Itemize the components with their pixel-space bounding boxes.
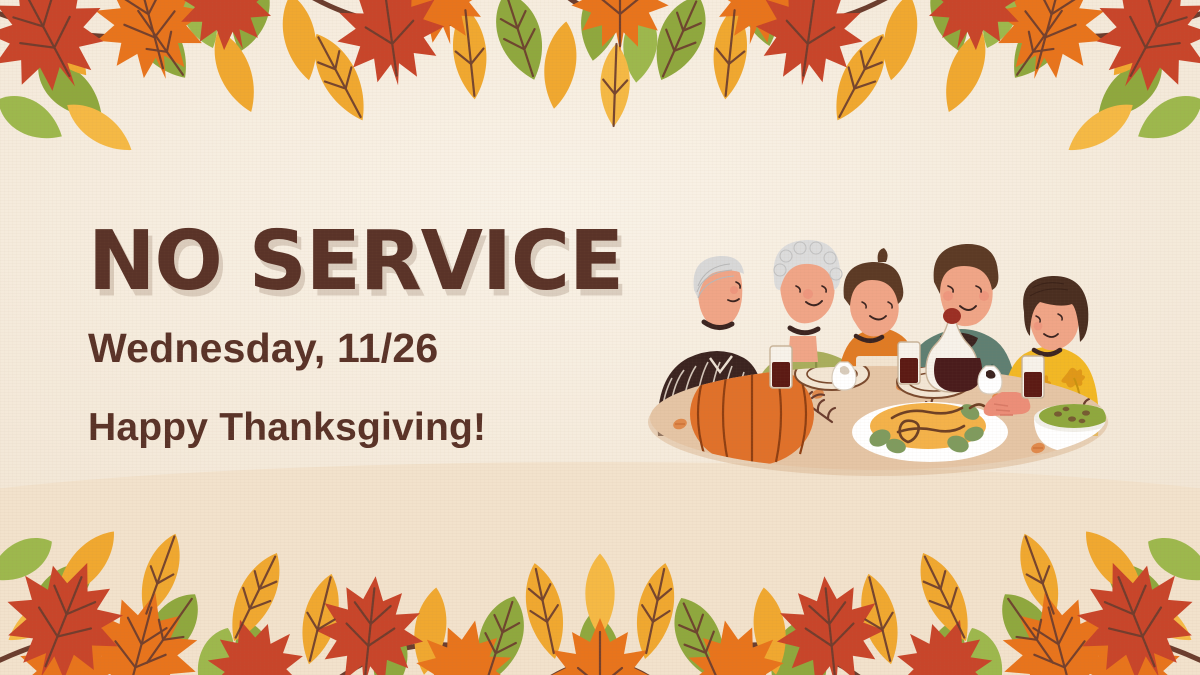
wine-glass [898, 342, 920, 384]
lower-warm-band-front [0, 462, 1200, 675]
salt-shaker [832, 362, 856, 390]
wine-glass [1022, 356, 1044, 398]
wine-glass [770, 346, 792, 388]
announcement-text-block: NO SERVICE Wednesday, 11/26 Happy Thanks… [88, 222, 593, 450]
page-title: NO SERVICE [88, 222, 623, 301]
thanksgiving-family-dinner-illustration [640, 186, 1110, 486]
thanksgiving-announcement-slide: NO SERVICE Wednesday, 11/26 Happy Thanks… [0, 0, 1200, 675]
holiday-greeting: Happy Thanksgiving! [88, 406, 593, 450]
autumn-leaf-border-top [0, 0, 1200, 190]
service-date: Wednesday, 11/26 [88, 325, 593, 372]
pepper-shaker [978, 366, 1002, 394]
